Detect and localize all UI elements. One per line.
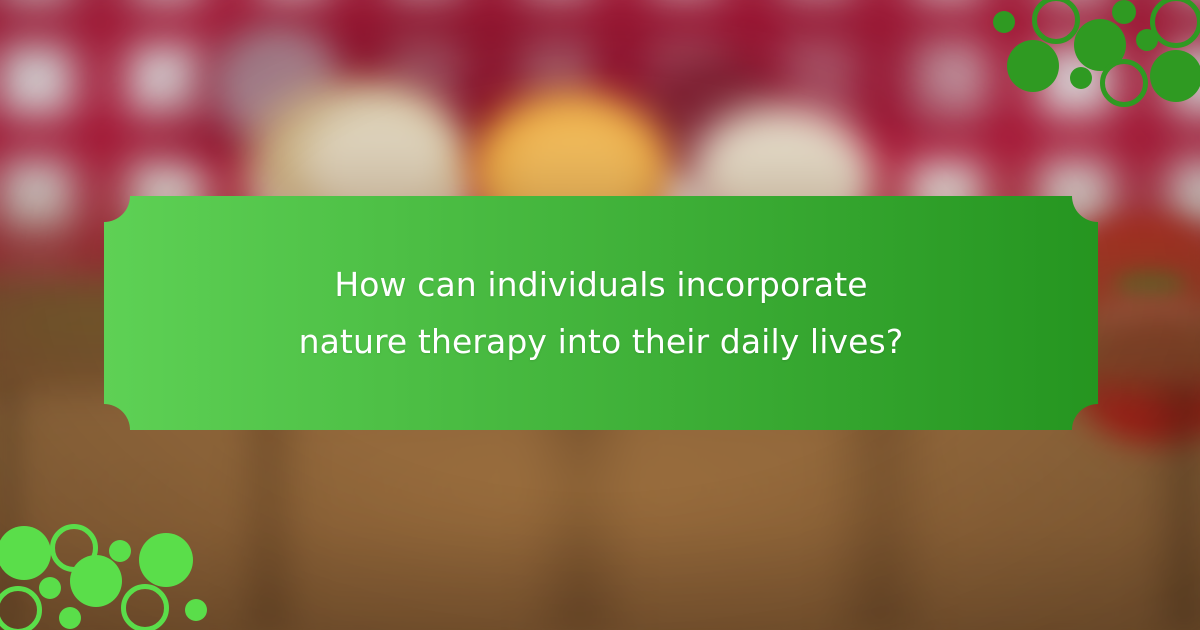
- decor-bl-circle-6: [0, 586, 42, 630]
- decorative-circles-top-right: [990, 0, 1200, 115]
- decor-bl-circle-5: [70, 555, 122, 607]
- decor-tr-circle-1: [1032, 0, 1080, 44]
- decor-tr-circle-5: [1136, 29, 1158, 51]
- decorative-circles-bottom-left: [0, 518, 215, 630]
- headline-text: How can individuals incorporate nature t…: [251, 256, 951, 370]
- screenshot-canvas: How can individuals incorporate nature t…: [0, 0, 1200, 630]
- decor-tr-circle-7: [1070, 67, 1092, 89]
- decor-bl-circle-8: [121, 584, 169, 630]
- decor-tr-circle-8: [1100, 59, 1148, 107]
- decor-bl-circle-2: [109, 540, 131, 562]
- decor-tr-circle-9: [1150, 50, 1200, 102]
- decor-tr-circle-0: [993, 11, 1015, 33]
- decor-bl-circle-3: [139, 533, 193, 587]
- headline-banner: How can individuals incorporate nature t…: [104, 196, 1098, 430]
- decor-tr-circle-6: [1007, 40, 1059, 92]
- decor-bl-circle-4: [39, 577, 61, 599]
- decor-bl-circle-7: [59, 607, 81, 629]
- decor-bl-circle-9: [185, 599, 207, 621]
- decor-tr-circle-2: [1112, 0, 1136, 24]
- decor-bl-circle-0: [0, 526, 51, 580]
